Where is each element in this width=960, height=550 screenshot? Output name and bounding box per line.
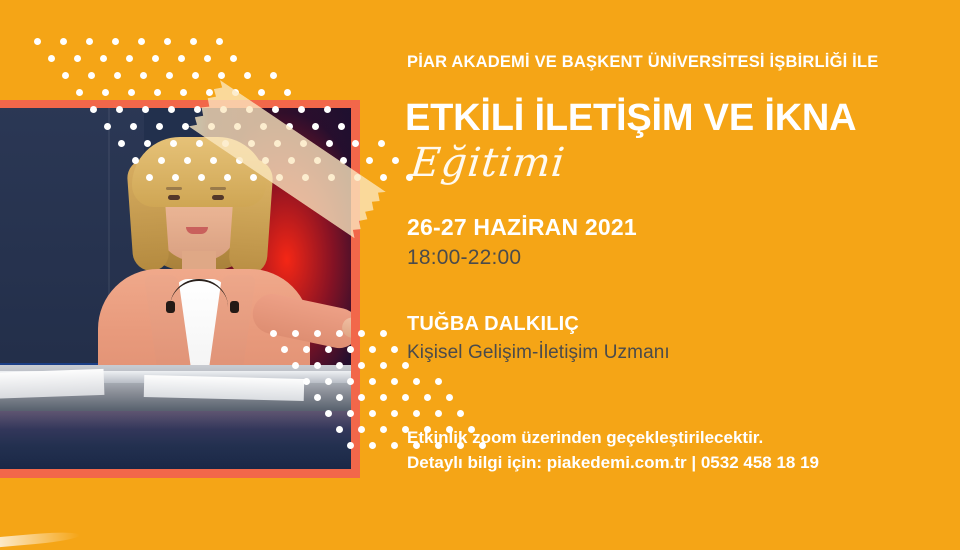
dot bbox=[392, 157, 399, 164]
eye-right bbox=[212, 195, 224, 200]
dot bbox=[218, 72, 225, 79]
text-column: PİAR AKADEMİ VE BAŞKENT ÜNİVERSİTESİ İŞB… bbox=[407, 0, 947, 550]
dot bbox=[140, 72, 147, 79]
dot bbox=[230, 55, 237, 62]
dot bbox=[380, 330, 387, 337]
corner-streak-decoration bbox=[0, 530, 80, 548]
dot bbox=[154, 89, 161, 96]
dot bbox=[380, 174, 387, 181]
dot bbox=[86, 38, 93, 45]
speaker-name: TUĞBA DALKILIÇ bbox=[407, 313, 579, 336]
dot bbox=[378, 140, 385, 147]
dot bbox=[258, 89, 265, 96]
dot bbox=[62, 72, 69, 79]
dot bbox=[180, 89, 187, 96]
main-title: ETKİLİ İLETİŞİM VE İKNA bbox=[405, 99, 856, 137]
dot bbox=[391, 442, 398, 449]
dot bbox=[76, 89, 83, 96]
dot bbox=[369, 346, 376, 353]
dot bbox=[48, 55, 55, 62]
dot bbox=[391, 410, 398, 417]
dot bbox=[60, 38, 67, 45]
dot bbox=[102, 89, 109, 96]
speaker-role: Kişisel Gelişim-İletişim Uzmanı bbox=[407, 342, 670, 364]
event-date: 26-27 HAZİRAN 2021 bbox=[407, 214, 637, 241]
microphone-right-icon bbox=[230, 301, 239, 313]
dot bbox=[88, 72, 95, 79]
dot bbox=[391, 378, 398, 385]
footer-note: Etkinlik zoom üzerinden geçekleştirilece… bbox=[407, 428, 763, 448]
dot bbox=[369, 378, 376, 385]
microphone-left-icon bbox=[166, 301, 175, 313]
dot bbox=[164, 38, 171, 45]
dot bbox=[166, 72, 173, 79]
dot bbox=[112, 38, 119, 45]
dot bbox=[380, 394, 387, 401]
dot bbox=[138, 38, 145, 45]
kicker-line: PİAR AKADEMİ VE BAŞKENT ÜNİVERSİTESİ İŞB… bbox=[407, 53, 878, 72]
dot bbox=[216, 38, 223, 45]
dot bbox=[74, 55, 81, 62]
dot bbox=[366, 157, 373, 164]
dot bbox=[270, 72, 277, 79]
desk-reflection bbox=[0, 411, 351, 469]
dot bbox=[391, 346, 398, 353]
dot bbox=[114, 72, 121, 79]
eye-left bbox=[168, 195, 180, 200]
dot bbox=[369, 410, 376, 417]
footer-contact[interactable]: Detaylı bilgi için: piakedemi.com.tr | 0… bbox=[407, 453, 819, 473]
eyebrow-left bbox=[166, 187, 182, 190]
dot bbox=[369, 442, 376, 449]
dot bbox=[284, 89, 291, 96]
dot bbox=[204, 55, 211, 62]
dot bbox=[380, 426, 387, 433]
poster-canvas: HABER CANLI YAYIN bbox=[0, 0, 960, 550]
dot bbox=[152, 55, 159, 62]
desk-papers-right bbox=[144, 375, 304, 401]
dot bbox=[244, 72, 251, 79]
dot bbox=[192, 72, 199, 79]
dot bbox=[380, 362, 387, 369]
dot bbox=[34, 38, 41, 45]
title-script: Eğitimi bbox=[409, 143, 567, 183]
dot bbox=[100, 55, 107, 62]
mouth bbox=[186, 227, 208, 234]
desk-papers-left bbox=[0, 369, 104, 399]
dot bbox=[190, 38, 197, 45]
event-time: 18:00-22:00 bbox=[407, 246, 521, 270]
dot bbox=[128, 89, 135, 96]
dot bbox=[126, 55, 133, 62]
eyebrow-right bbox=[210, 187, 226, 190]
dot bbox=[178, 55, 185, 62]
